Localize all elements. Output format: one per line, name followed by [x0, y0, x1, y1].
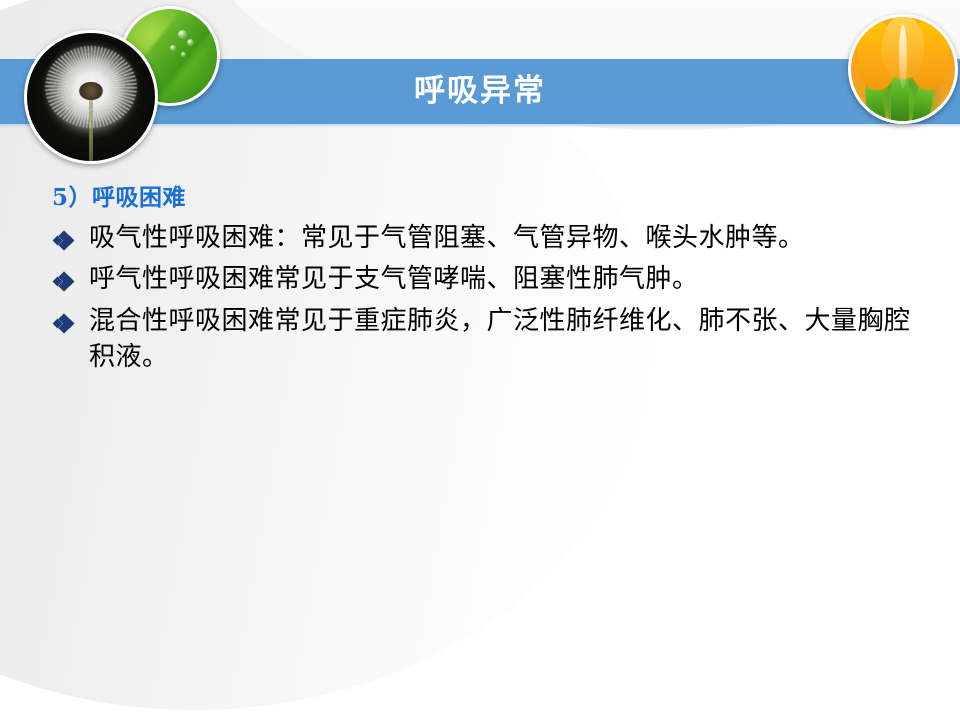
section-heading: 5）呼吸困难 [52, 178, 920, 212]
list-item-text: 混合性呼吸困难常见于重症肺炎，广泛性肺纤维化、肺不张、大量胸腔积液。 [89, 306, 911, 372]
diamond-bullet-icon [54, 272, 74, 290]
list-item-text: 呼气性呼吸困难常见于支气管哮喘、阻塞性肺气肿。 [89, 264, 699, 294]
tulip-highlight-shape [899, 25, 907, 87]
tulip-icon [848, 14, 958, 124]
diamond-bullet-icon [54, 231, 74, 249]
slide-body: 5）呼吸困难 吸气性呼吸困难：常见于气管阻塞、气管异物、喉头水肿等。 呼气性呼吸… [52, 178, 920, 381]
list-item: 混合性呼吸困难常见于重症肺炎，广泛性肺纤维化、肺不张、大量胸腔积液。 [52, 303, 920, 376]
list-item: 吸气性呼吸困难：常见于气管阻塞、气管异物、喉头水肿等。 [52, 220, 920, 256]
list-item: 呼气性呼吸困难常见于支气管哮喘、阻塞性肺气肿。 [52, 261, 920, 297]
dandelion-icon [24, 30, 158, 164]
list-item-text: 吸气性呼吸困难：常见于气管阻塞、气管异物、喉头水肿等。 [89, 223, 805, 253]
water-droplet-icon [178, 30, 187, 39]
bullet-list: 吸气性呼吸困难：常见于气管阻塞、气管异物、喉头水肿等。 呼气性呼吸困难常见于支气… [52, 220, 920, 376]
diamond-bullet-icon [54, 314, 74, 332]
dandelion-core-shape [79, 82, 102, 100]
water-droplet-icon [170, 45, 176, 51]
slide-canvas: 呼吸异常 5）呼吸困难 吸气性呼吸困难：常见于气管阻塞、气管异物、喉头水肿等。 [0, 0, 960, 720]
water-droplet-icon [187, 39, 194, 46]
